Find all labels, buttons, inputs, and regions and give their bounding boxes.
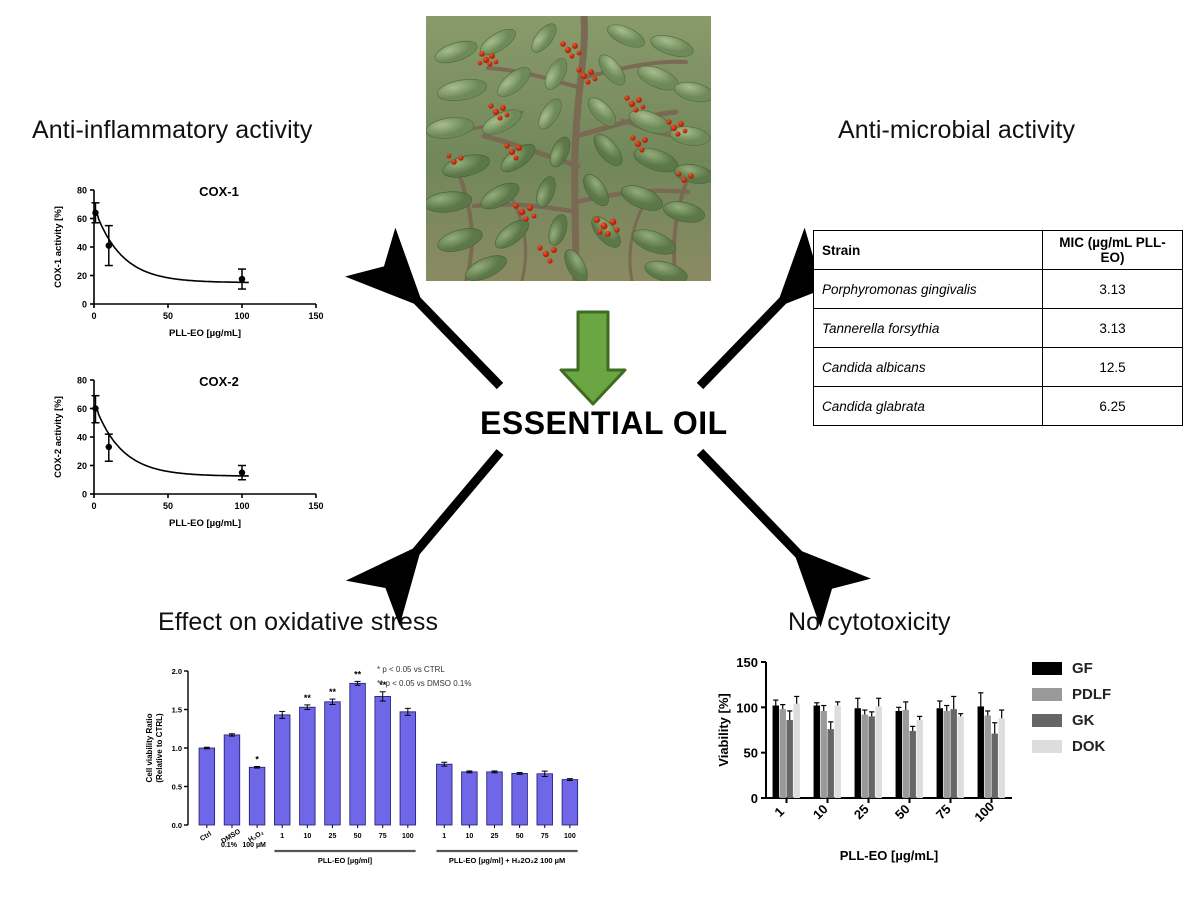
col-header-mic: MIC (µg/mL PLL-EO) (1043, 231, 1183, 270)
svg-text:1.0: 1.0 (172, 744, 182, 753)
stat-note-double: ** p < 0.05 vs DMSO 0.1% (377, 677, 472, 691)
svg-text:0.5: 0.5 (172, 783, 182, 792)
cell-mic: 12.5 (1043, 348, 1183, 387)
svg-text:20: 20 (77, 271, 87, 281)
oxidative-stress-stat-notes: * p < 0.05 vs CTRL ** p < 0.05 vs DMSO 0… (377, 663, 472, 691)
y-axis-label: COX-2 activity [%] (53, 396, 64, 478)
x-axis-label: PLL-EO [µg/mL] (169, 518, 241, 529)
bar (350, 683, 366, 825)
bar (780, 709, 786, 798)
x-tick-label: 10 (810, 801, 831, 822)
svg-text:60: 60 (77, 404, 87, 414)
bar (869, 716, 875, 798)
bar (957, 716, 963, 798)
y-axis-label: COX-1 activity [%] (53, 206, 64, 288)
bar (937, 708, 943, 798)
y-axis-label-2: (Relative to CTRL) (155, 713, 164, 783)
bar (862, 715, 868, 798)
group-label: PLL-EO [µg/ml] + H₂2O₂2 100 µM (449, 856, 565, 865)
significance-marker: ** (329, 687, 337, 697)
x-tick-label: 50 (892, 801, 913, 822)
bar (436, 764, 452, 825)
x-tick-label: 75 (541, 833, 549, 840)
svg-text:80: 80 (77, 375, 87, 385)
bar (400, 712, 416, 825)
legend-swatch-gk (1032, 714, 1062, 727)
svg-text:150: 150 (308, 311, 323, 321)
bar (793, 704, 799, 798)
bar (814, 706, 820, 798)
table-header-row: Strain MIC (µg/mL PLL-EO) (814, 231, 1183, 270)
svg-text:0: 0 (82, 299, 87, 309)
cell-mic: 6.25 (1043, 387, 1183, 426)
plot-cox2: 020406080050100150COX-2PLL-EO [µg/mL]COX… (48, 366, 328, 541)
legend-label-gf: GF (1072, 660, 1093, 677)
x-tick-label: 50 (516, 833, 524, 840)
table-row: Tannerella forsythia 3.13 (814, 309, 1183, 348)
x-tick-label: 25 (851, 801, 872, 822)
svg-text:0: 0 (91, 311, 96, 321)
legend-item-dok: DOK (1032, 738, 1111, 755)
plot-cox1: 020406080050100150COX-1PLL-EO [µg/mL]COX… (48, 176, 328, 351)
center-label-essential-oil: ESSENTIAL OIL (480, 405, 728, 442)
svg-text:0: 0 (91, 501, 96, 511)
chart-title: COX-1 (199, 184, 239, 199)
bar (375, 696, 391, 825)
legend-swatch-dok (1032, 740, 1062, 753)
bar (951, 709, 957, 798)
table-row: Porphyromonas gingivalis 3.13 (814, 270, 1183, 309)
svg-text:0: 0 (751, 791, 758, 806)
chart-cytotoxicity: 050100150110255075100PLL-EO [µg/mL]Viabi… (712, 648, 1032, 888)
bar (249, 767, 265, 825)
mic-table: Strain MIC (µg/mL PLL-EO) Porphyromonas … (813, 230, 1183, 426)
bar (224, 735, 240, 825)
bar (274, 715, 290, 825)
x-tick-label: Ctrl (199, 831, 213, 843)
bar (855, 708, 861, 798)
bar (512, 773, 528, 825)
svg-text:150: 150 (308, 501, 323, 511)
bar (300, 707, 316, 825)
legend-label-gk: GK (1072, 712, 1095, 729)
bar (910, 731, 916, 798)
chart-cox1: 020406080050100150COX-1PLL-EO [µg/mL]COX… (48, 176, 328, 356)
bar (773, 706, 779, 798)
svg-text:50: 50 (744, 746, 758, 761)
svg-text:100 µM: 100 µM (242, 842, 266, 849)
x-tick-label: 1 (771, 804, 787, 820)
significance-marker: * (255, 754, 259, 764)
x-axis-label: PLL-EO [µg/mL] (169, 328, 241, 339)
bar (978, 706, 984, 798)
bar (828, 729, 834, 798)
x-axis-label: PLL-EO [µg/mL] (840, 848, 938, 863)
bar (199, 748, 215, 825)
chart-title: COX-2 (199, 374, 239, 389)
arrow-to-cytotoxicity (700, 452, 812, 568)
cell-strain: Tannerella forsythia (814, 309, 1043, 348)
bar (834, 706, 840, 798)
col-header-strain: Strain (814, 231, 1043, 270)
x-tick-label: 100 (402, 833, 414, 840)
svg-text:150: 150 (736, 655, 758, 670)
cell-mic: 3.13 (1043, 270, 1183, 309)
legend-label-dok: DOK (1072, 738, 1105, 755)
arrow-to-oxidative-stress (404, 452, 500, 566)
x-tick-label: 25 (329, 833, 337, 840)
bar (903, 710, 909, 798)
svg-text:0.0: 0.0 (172, 821, 182, 830)
arrow-to-anti-inflammatory (404, 287, 500, 386)
stat-note-single: * p < 0.05 vs CTRL (377, 663, 472, 677)
cytotoxicity-legend: GF PDLF GK DOK (1032, 660, 1111, 764)
x-tick-label: 75 (933, 801, 954, 822)
svg-text:40: 40 (77, 432, 87, 442)
bar (537, 774, 553, 825)
svg-text:100: 100 (736, 700, 758, 715)
legend-label-pdlf: PDLF (1072, 686, 1111, 703)
x-tick-label: 100 (971, 799, 997, 825)
svg-text:0: 0 (82, 489, 87, 499)
svg-text:1.5: 1.5 (172, 706, 182, 715)
svg-text:60: 60 (77, 214, 87, 224)
x-tick-label: 1 (442, 833, 446, 840)
bar (562, 780, 578, 825)
bar (875, 706, 881, 798)
bar (821, 711, 827, 798)
legend-item-gk: GK (1032, 712, 1111, 729)
legend-swatch-pdlf (1032, 688, 1062, 701)
table-row: Candida albicans 12.5 (814, 348, 1183, 387)
legend-item-gf: GF (1032, 660, 1111, 677)
y-axis-label: Viability [%] (716, 693, 731, 766)
cell-strain: Candida albicans (814, 348, 1043, 387)
svg-text:50: 50 (163, 311, 173, 321)
svg-text:100: 100 (234, 501, 249, 511)
significance-marker: ** (354, 669, 362, 679)
x-tick-label: 100 (564, 833, 576, 840)
legend-item-pdlf: PDLF (1032, 686, 1111, 703)
mic-table-wrap: Strain MIC (µg/mL PLL-EO) Porphyromonas … (813, 230, 1183, 426)
x-tick-label: 10 (465, 833, 473, 840)
bar (487, 772, 503, 825)
svg-text:50: 50 (163, 501, 173, 511)
bar (916, 720, 922, 798)
cell-strain: Porphyromonas gingivalis (814, 270, 1043, 309)
x-tick-label: 1 (280, 833, 284, 840)
table-row: Candida glabrata 6.25 (814, 387, 1183, 426)
chart-cox2: 020406080050100150COX-2PLL-EO [µg/mL]COX… (48, 366, 328, 546)
bar (896, 711, 902, 798)
group-label: PLL-EO [µg/ml] (318, 856, 373, 865)
svg-text:0.1%: 0.1% (221, 842, 238, 849)
bar (787, 720, 793, 798)
significance-marker: ** (304, 693, 312, 703)
legend-swatch-gf (1032, 662, 1062, 675)
svg-text:40: 40 (77, 242, 87, 252)
arrow-to-anti-microbial (700, 287, 796, 386)
bar (998, 718, 1004, 798)
bar (325, 702, 341, 825)
x-tick-label: 75 (379, 833, 387, 840)
cell-strain: Candida glabrata (814, 387, 1043, 426)
bar (944, 711, 950, 798)
plot-cytotoxicity: 050100150110255075100PLL-EO [µg/mL]Viabi… (712, 648, 1032, 883)
bar (462, 772, 478, 825)
svg-text:2.0: 2.0 (172, 667, 182, 676)
svg-text:80: 80 (77, 185, 87, 195)
bar (992, 734, 998, 798)
svg-text:20: 20 (77, 461, 87, 471)
svg-text:100: 100 (234, 311, 249, 321)
bar (985, 715, 991, 798)
x-tick-label: 10 (303, 833, 311, 840)
cell-mic: 3.13 (1043, 309, 1183, 348)
y-axis-label: Cell viability Ratio (145, 713, 154, 782)
x-tick-label: 25 (491, 833, 499, 840)
x-tick-label: 50 (354, 833, 362, 840)
green-down-arrow (561, 312, 625, 404)
